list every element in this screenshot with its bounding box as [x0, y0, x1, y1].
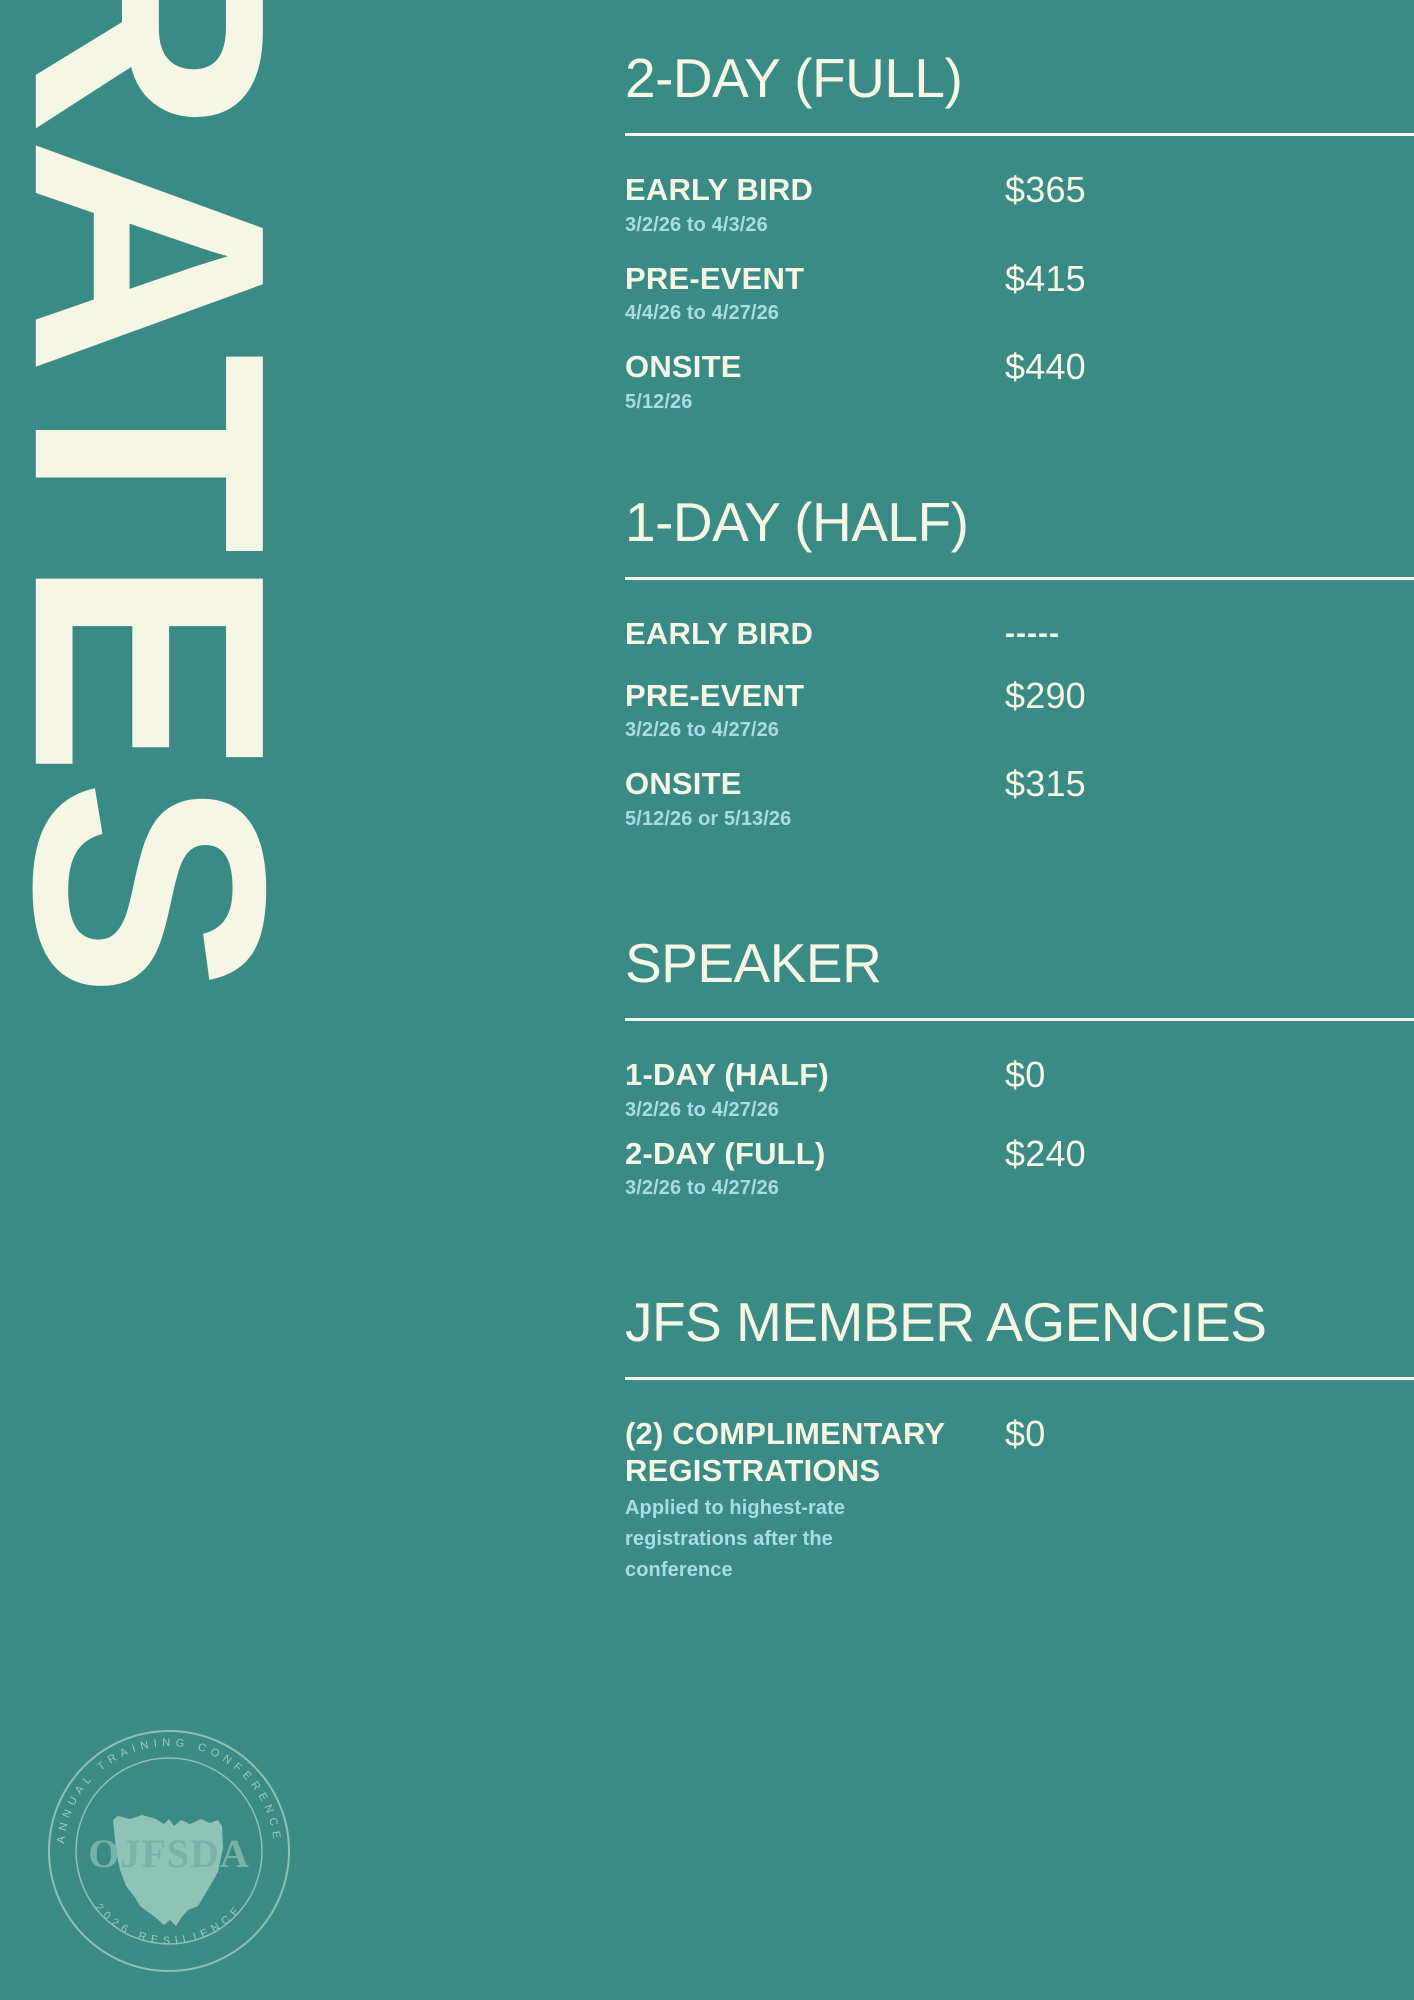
rate-price: $315 — [1005, 766, 1086, 803]
rate-row-main: ONSITE 5/12/26 or 5/13/26 — [625, 766, 1005, 833]
section-speaker: SPEAKER 1-DAY (HALF) 3/2/26 to 4/27/26 $… — [625, 935, 1414, 1202]
rate-dates: 3/2/26 to 4/3/26 — [625, 212, 1005, 239]
rate-row-main: PRE-EVENT 4/4/26 to 4/27/26 — [625, 261, 1005, 328]
rate-label: 2-DAY (FULL) — [625, 1136, 1005, 1173]
rate-row: ONSITE 5/12/26 or 5/13/26 $315 — [625, 766, 1414, 833]
rate-label: EARLY BIRD — [625, 616, 1005, 653]
rate-label: 1-DAY (HALF) — [625, 1057, 1005, 1094]
rate-row-main: EARLY BIRD — [625, 616, 1005, 656]
seal-center-text: OJFSDA — [88, 1831, 250, 1876]
section-title: 2-DAY (FULL) — [625, 50, 1414, 107]
rate-dates: 3/2/26 to 4/27/26 — [625, 1097, 1005, 1124]
rate-price: $290 — [1005, 678, 1086, 715]
rate-price: ----- — [1005, 616, 1060, 652]
rate-row: EARLY BIRD 3/2/26 to 4/3/26 $365 — [625, 172, 1414, 239]
rate-row-main: EARLY BIRD 3/2/26 to 4/3/26 — [625, 172, 1005, 239]
rate-dates: 5/12/26 — [625, 389, 1005, 416]
rate-row: EARLY BIRD ----- — [625, 616, 1414, 656]
rates-poster: RATES OJFSDA ANNUAL TRAINING CONFERENCE … — [0, 0, 1414, 2000]
rates-wordmark: RATES — [0, 0, 300, 2000]
section-one-day-half: 1-DAY (HALF) EARLY BIRD ----- PRE-EVENT … — [625, 494, 1414, 833]
rate-price: $440 — [1005, 349, 1086, 386]
section-jfs-member-agencies: JFS MEMBER AGENCIES (2) COMPLIMENTARY RE… — [625, 1294, 1414, 1585]
spacer — [625, 1214, 1414, 1294]
rate-row-main: PRE-EVENT 3/2/26 to 4/27/26 — [625, 678, 1005, 745]
spacer — [625, 438, 1414, 494]
spacer — [625, 855, 1414, 935]
rate-row: PRE-EVENT 3/2/26 to 4/27/26 $290 — [625, 678, 1414, 745]
rate-label: ONSITE — [625, 349, 1005, 386]
section-divider — [625, 133, 1414, 136]
rate-row-main: ONSITE 5/12/26 — [625, 349, 1005, 416]
rate-price: $0 — [1005, 1416, 1045, 1453]
rate-dates: 5/12/26 or 5/13/26 — [625, 806, 1005, 833]
rate-row-main: 2-DAY (FULL) 3/2/26 to 4/27/26 — [625, 1136, 1005, 1203]
section-title: SPEAKER — [625, 935, 1414, 992]
rates-content-column: 2-DAY (FULL) EARLY BIRD 3/2/26 to 4/3/26… — [625, 0, 1414, 2000]
rate-row-main: (2) COMPLIMENTARY REGISTRATIONS Applied … — [625, 1416, 1005, 1585]
rate-price: $0 — [1005, 1057, 1045, 1094]
rate-price: $240 — [1005, 1136, 1086, 1173]
rate-row: (2) COMPLIMENTARY REGISTRATIONS Applied … — [625, 1416, 1414, 1585]
section-title: JFS MEMBER AGENCIES — [625, 1294, 1414, 1351]
rate-dates: 3/2/26 to 4/27/26 — [625, 1175, 1005, 1202]
rate-dates: 4/4/26 to 4/27/26 — [625, 300, 1005, 327]
rate-label: PRE-EVENT — [625, 261, 1005, 298]
rate-row-main: 1-DAY (HALF) 3/2/26 to 4/27/26 — [625, 1057, 1005, 1124]
rate-note: Applied to highest-rate registrations af… — [625, 1493, 925, 1586]
rate-row: PRE-EVENT 4/4/26 to 4/27/26 $415 — [625, 261, 1414, 328]
rate-dates: 3/2/26 to 4/27/26 — [625, 717, 1005, 744]
rate-label: PRE-EVENT — [625, 678, 1005, 715]
rate-label: ONSITE — [625, 766, 1005, 803]
section-two-day-full: 2-DAY (FULL) EARLY BIRD 3/2/26 to 4/3/26… — [625, 50, 1414, 416]
rate-price: $415 — [1005, 261, 1086, 298]
rate-row: 2-DAY (FULL) 3/2/26 to 4/27/26 $240 — [625, 1136, 1414, 1203]
rate-label: EARLY BIRD — [625, 172, 1005, 209]
ojfsda-conference-seal: OJFSDA ANNUAL TRAINING CONFERENCE 2026 R… — [38, 1720, 300, 1982]
rate-row: ONSITE 5/12/26 $440 — [625, 349, 1414, 416]
section-divider — [625, 1377, 1414, 1380]
rates-wordmark-text: RATES — [0, 0, 300, 1317]
section-divider — [625, 1018, 1414, 1021]
section-title: 1-DAY (HALF) — [625, 494, 1414, 551]
rate-price: $365 — [1005, 172, 1086, 209]
rate-row: 1-DAY (HALF) 3/2/26 to 4/27/26 $0 — [625, 1057, 1414, 1124]
rate-label: (2) COMPLIMENTARY REGISTRATIONS — [625, 1416, 1005, 1489]
section-divider — [625, 577, 1414, 580]
